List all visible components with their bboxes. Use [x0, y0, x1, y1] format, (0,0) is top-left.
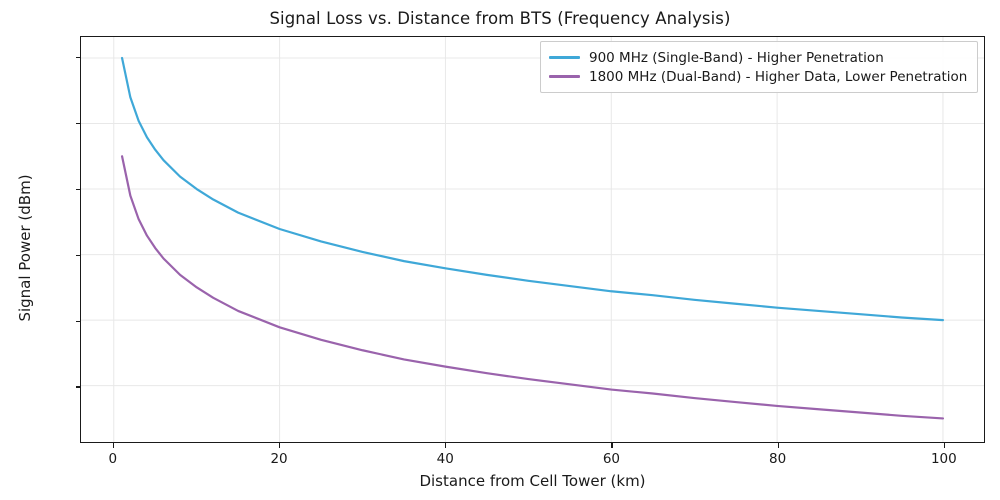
x-tick-mark	[113, 443, 114, 448]
legend-item-label: 900 MHz (Single-Band) - Higher Penetrati…	[589, 50, 884, 66]
legend-item-label: 1800 MHz (Dual-Band) - Higher Data, Lowe…	[589, 69, 967, 85]
legend-line-swatch-icon	[549, 75, 580, 78]
x-tick-mark	[279, 443, 280, 448]
x-tick-mark	[611, 443, 612, 448]
series-line-1	[122, 58, 943, 320]
x-tick-label: 20	[219, 451, 339, 467]
x-tick-label: 0	[53, 451, 173, 467]
chart-legend[interactable]: 900 MHz (Single-Band) - Higher Penetrati…	[540, 41, 978, 93]
legend-item[interactable]: 900 MHz (Single-Band) - Higher Penetrati…	[549, 48, 967, 67]
plot-area	[80, 36, 985, 443]
data-series-layer	[81, 37, 984, 442]
x-tick-label: 80	[718, 451, 838, 467]
x-tick-mark	[445, 443, 446, 448]
x-tick-mark	[944, 443, 945, 448]
x-tick-label: 100	[884, 451, 1000, 467]
legend-line-swatch-icon	[549, 56, 580, 59]
x-tick-label: 60	[551, 451, 671, 467]
series-line-2	[122, 156, 943, 418]
chart-title: Signal Loss vs. Distance from BTS (Frequ…	[0, 9, 1000, 28]
legend-item[interactable]: 1800 MHz (Dual-Band) - Higher Data, Lowe…	[549, 67, 967, 86]
x-tick-label: 40	[385, 451, 505, 467]
chart-figure: Signal Loss vs. Distance from BTS (Frequ…	[0, 0, 1000, 500]
x-axis-label: Distance from Cell Tower (km)	[80, 472, 985, 490]
y-axis-label: Signal Power (dBm)	[16, 48, 34, 448]
x-tick-mark	[778, 443, 779, 448]
